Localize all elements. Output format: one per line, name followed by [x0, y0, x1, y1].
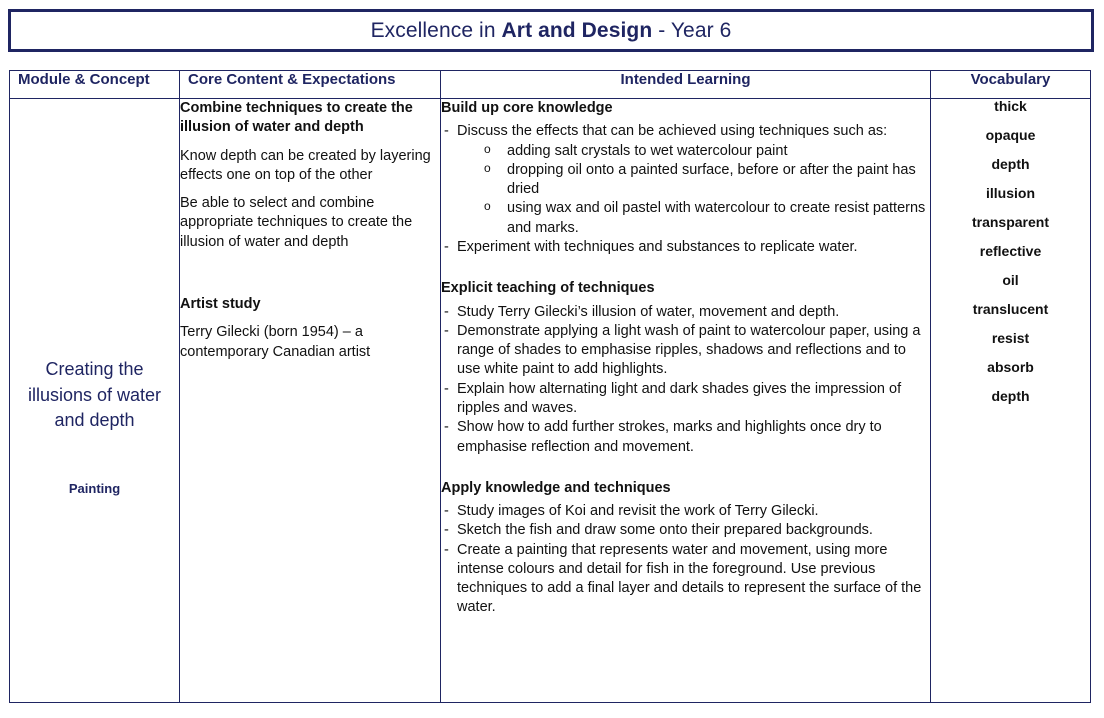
learning-section-heading: Build up core knowledge: [441, 99, 930, 118]
vocabulary-word: illusion: [931, 186, 1090, 200]
page-title-emphasis: Art and Design: [502, 19, 653, 42]
cell-module-concept: Creating the illusions of water and dept…: [10, 99, 180, 703]
circle-bullet-icon: o: [484, 142, 491, 158]
dash-bullet-icon: -: [444, 380, 449, 399]
module-concept-title: Creating the illusions of water and dept…: [10, 357, 179, 434]
page-title-banner: Excellence in Art and Design - Year 6: [8, 9, 1094, 52]
vocabulary-word: transparent: [931, 215, 1090, 229]
vocabulary-word: resist: [931, 331, 1090, 345]
core-content-paragraph: Know depth can be created by layering ef…: [180, 147, 440, 186]
vocabulary-word: reflective: [931, 244, 1090, 258]
learning-item: -Study images of Koi and revisit the wor…: [441, 502, 930, 521]
module-discipline-label: Painting: [10, 481, 179, 496]
table-row: Creating the illusions of water and dept…: [10, 99, 1091, 703]
learning-item-text: Demonstrate applying a light wash of pai…: [457, 323, 920, 378]
vocabulary-word: thick: [931, 99, 1090, 113]
learning-item-list: -Discuss the effects that can be achieve…: [441, 122, 930, 257]
learning-item-text: Sketch the fish and draw some onto their…: [457, 522, 873, 538]
learning-item-text: Experiment with techniques and substance…: [457, 239, 858, 255]
section-spacer: [441, 457, 930, 479]
learning-item-text: Show how to add further strokes, marks a…: [457, 419, 882, 454]
learning-item-text: Explain how alternating light and dark s…: [457, 381, 901, 416]
learning-item-text: Study Terry Gilecki’s illusion of water,…: [457, 304, 839, 320]
learning-item-list: -Study Terry Gilecki’s illusion of water…: [441, 303, 930, 457]
core-content-lead: Combine techniques to create the illusio…: [180, 99, 440, 138]
learning-item-list: -Study images of Koi and revisit the wor…: [441, 502, 930, 618]
learning-item-text: Discuss the effects that can be achieved…: [457, 123, 887, 139]
learning-item: -Discuss the effects that can be achieve…: [441, 122, 930, 238]
column-header-module: Module & Concept: [10, 71, 180, 99]
artist-study-heading: Artist study: [180, 295, 440, 314]
dash-bullet-icon: -: [444, 541, 449, 560]
table-header-row: Module & Concept Core Content & Expectat…: [10, 71, 1091, 99]
learning-subitem: odropping oil onto a painted surface, be…: [482, 161, 930, 200]
artist-study-text: Terry Gilecki (born 1954) – a contempora…: [180, 323, 440, 362]
cell-core-content: Combine techniques to create the illusio…: [180, 99, 441, 703]
learning-item-text: Create a painting that represents water …: [457, 542, 921, 616]
learning-subitem: ousing wax and oil pastel with watercolo…: [482, 199, 930, 238]
vocabulary-word: oil: [931, 273, 1090, 287]
learning-subitem-text: using wax and oil pastel with watercolou…: [507, 200, 925, 235]
learning-item: -Sketch the fish and draw some onto thei…: [441, 521, 930, 540]
vocabulary-word: depth: [931, 157, 1090, 171]
curriculum-table-wrapper: Module & Concept Core Content & Expectat…: [9, 70, 1090, 703]
learning-item: -Demonstrate applying a light wash of pa…: [441, 322, 930, 380]
intended-learning-sections: Build up core knowledge-Discuss the effe…: [441, 99, 930, 618]
vocabulary-word: opaque: [931, 128, 1090, 142]
vocabulary-word: translucent: [931, 302, 1090, 316]
dash-bullet-icon: -: [444, 502, 449, 521]
vocabulary-word: absorb: [931, 360, 1090, 374]
module-stack: Creating the illusions of water and dept…: [10, 357, 179, 496]
learning-subitem-text: adding salt crystals to wet watercolour …: [507, 143, 787, 159]
learning-item: -Experiment with techniques and substanc…: [441, 238, 930, 257]
section-spacer: [441, 257, 930, 279]
learning-section-heading: Explicit teaching of techniques: [441, 279, 930, 298]
learning-item: -Create a painting that represents water…: [441, 541, 930, 618]
dash-bullet-icon: -: [444, 238, 449, 257]
vocabulary-list: thickopaquedepthillusiontransparentrefle…: [931, 99, 1090, 403]
learning-item: -Study Terry Gilecki’s illusion of water…: [441, 303, 930, 322]
cell-vocabulary: thickopaquedepthillusiontransparentrefle…: [931, 99, 1091, 703]
circle-bullet-icon: o: [484, 199, 491, 215]
dash-bullet-icon: -: [444, 521, 449, 540]
learning-item: -Show how to add further strokes, marks …: [441, 418, 930, 457]
core-content-spacer: [180, 261, 440, 295]
curriculum-table: Module & Concept Core Content & Expectat…: [9, 70, 1091, 703]
learning-subitem-list: oadding salt crystals to wet watercolour…: [457, 142, 930, 238]
dash-bullet-icon: -: [444, 122, 449, 141]
page-title: Excellence in Art and Design - Year 6: [371, 19, 732, 43]
learning-item-text: Study images of Koi and revisit the work…: [457, 503, 819, 519]
dash-bullet-icon: -: [444, 303, 449, 322]
column-header-intended-learning: Intended Learning: [441, 71, 931, 99]
circle-bullet-icon: o: [484, 161, 491, 177]
page-title-suffix: - Year 6: [652, 19, 731, 42]
learning-item: -Explain how alternating light and dark …: [441, 380, 930, 419]
core-content-paragraph: Be able to select and combine appropriat…: [180, 194, 440, 252]
learning-section-heading: Apply knowledge and techniques: [441, 479, 930, 498]
column-header-core-content: Core Content & Expectations: [180, 71, 441, 99]
page-title-prefix: Excellence in: [371, 19, 502, 42]
column-header-vocabulary: Vocabulary: [931, 71, 1091, 99]
learning-subitem-text: dropping oil onto a painted surface, bef…: [507, 162, 916, 197]
vocabulary-word: depth: [931, 389, 1090, 403]
dash-bullet-icon: -: [444, 418, 449, 437]
learning-subitem: oadding salt crystals to wet watercolour…: [482, 142, 930, 161]
dash-bullet-icon: -: [444, 322, 449, 341]
cell-intended-learning: Build up core knowledge-Discuss the effe…: [441, 99, 931, 703]
